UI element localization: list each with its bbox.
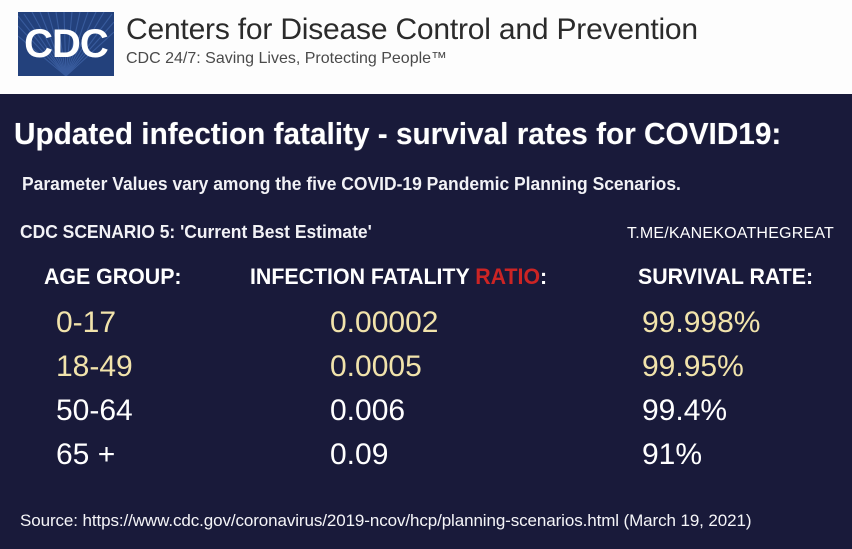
poster-body: Updated infection fatality - survival ra… — [0, 94, 852, 549]
table-header-row: AGE GROUP: INFECTION FATALITY RATIO: SUR… — [0, 264, 852, 306]
cell-age-group: 18-49 — [56, 350, 133, 384]
telegram-watermark: T.ME/KANEKOATHEGREAT — [627, 225, 834, 243]
table-row: 0-17 0.00002 99.998% — [0, 306, 852, 350]
cell-ifr: 0.00002 — [330, 306, 438, 340]
source-citation: Source: https://www.cdc.gov/coronavirus/… — [20, 511, 751, 531]
cell-survival-rate: 99.998% — [642, 306, 760, 340]
table-row: 50-64 0.006 99.4% — [0, 394, 852, 438]
cdc-header-band: CDC Centers for Disease Control and Prev… — [0, 0, 852, 94]
cdc-branding: CDC Centers for Disease Control and Prev… — [18, 12, 698, 76]
poster-headline: Updated infection fatality - survival ra… — [14, 116, 781, 152]
cell-ifr: 0.09 — [330, 438, 388, 472]
table-row: 65 + 0.09 91% — [0, 438, 852, 482]
table-row: 18-49 0.0005 99.95% — [0, 350, 852, 394]
cdc-wordmark: Centers for Disease Control and Preventi… — [126, 12, 698, 69]
poster-subline-scenario: CDC SCENARIO 5: 'Current Best Estimate' — [20, 222, 372, 243]
cdc-logo-icon: CDC — [18, 12, 114, 76]
cell-ifr: 0.006 — [330, 394, 405, 428]
cell-survival-rate: 91% — [642, 438, 702, 472]
covid-fatality-rates-poster: CDC Centers for Disease Control and Prev… — [0, 0, 852, 549]
column-header-survival-rate: SURVIVAL RATE: — [638, 264, 813, 290]
column-header-age-group: AGE GROUP: — [44, 264, 182, 290]
ifr-header-highlight: RATIO — [475, 264, 540, 289]
cell-age-group: 0-17 — [56, 306, 116, 340]
cell-survival-rate: 99.4% — [642, 394, 727, 428]
cdc-agency-name: Centers for Disease Control and Preventi… — [126, 13, 698, 47]
column-header-infection-fatality-ratio: INFECTION FATALITY RATIO: — [250, 264, 547, 290]
cdc-tagline: CDC 24/7: Saving Lives, Protecting Peopl… — [126, 49, 698, 69]
ifr-header-suffix: : — [540, 264, 547, 289]
cell-age-group: 65 + — [56, 438, 115, 472]
svg-text:CDC: CDC — [24, 22, 108, 66]
cell-age-group: 50-64 — [56, 394, 133, 428]
ifr-header-prefix: INFECTION FATALITY — [250, 264, 475, 289]
poster-subline-parameters: Parameter Values vary among the five COV… — [22, 174, 681, 195]
cell-survival-rate: 99.95% — [642, 350, 744, 384]
cell-ifr: 0.0005 — [330, 350, 422, 384]
fatality-rates-table: AGE GROUP: INFECTION FATALITY RATIO: SUR… — [0, 264, 852, 482]
